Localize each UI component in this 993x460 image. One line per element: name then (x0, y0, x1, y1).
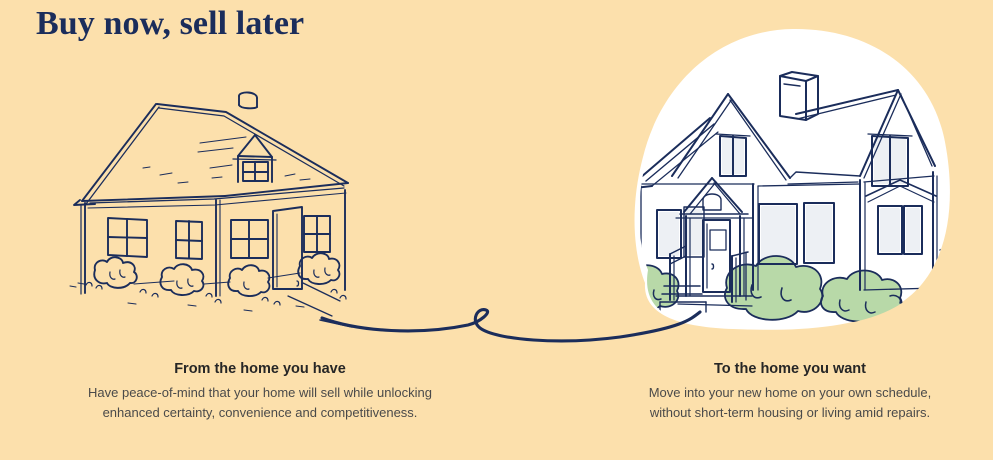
connector-path (322, 310, 700, 341)
caption-left-title: From the home you have (60, 360, 460, 378)
left-house-illustration (70, 92, 352, 327)
caption-right-body: Move into your new home on your own sche… (640, 383, 940, 423)
caption-left-body: Have peace-of-mind that your home will s… (60, 383, 460, 423)
caption-right-title: To the home you want (640, 360, 940, 378)
infographic-banner: Buy now, sell later (0, 0, 993, 460)
caption-right: To the home you want Move into your new … (640, 360, 940, 423)
caption-left: From the home you have Have peace-of-min… (60, 360, 460, 423)
